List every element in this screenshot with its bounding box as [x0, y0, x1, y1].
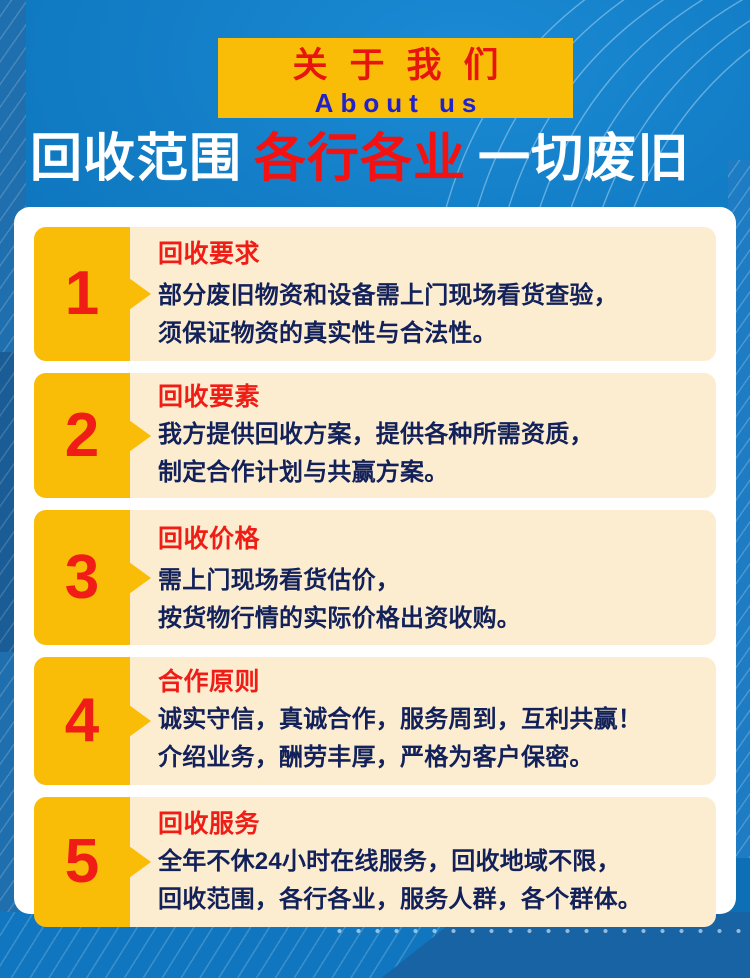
section-title: 回收要素: [158, 380, 702, 414]
section-content: 回收价格 需上门现场看货估价， 按货物行情的实际价格出资收购。: [130, 510, 716, 645]
section-number: 2: [65, 405, 99, 467]
section-line: 回收范围，各行各业，服务人群，各个群体。: [158, 881, 702, 919]
section-number-badge: 1: [34, 227, 130, 361]
list-item: 2 回收要素 我方提供回收方案，提供各种所需资质， 制定合作计划与共赢方案。: [34, 373, 716, 498]
section-line: 按货物行情的实际价格出资收购。: [158, 600, 702, 638]
title-segment-industries: 各行各业: [254, 130, 466, 188]
section-content: 回收要素 我方提供回收方案，提供各种所需资质， 制定合作计划与共赢方案。: [130, 373, 716, 498]
page-title: 回收范围各行各业一切废旧: [30, 127, 690, 191]
section-number-badge: 5: [34, 797, 130, 927]
list-item: 3 回收价格 需上门现场看货估价， 按货物行情的实际价格出资收购。: [34, 510, 716, 645]
about-us-poster: 关于我们 About us 回收范围各行各业一切废旧 1 回收要求 部分废旧物资…: [0, 0, 750, 978]
list-item: 4 合作原则 诚实守信，真诚合作，服务周到，互利共赢！ 介绍业务，酬劳丰厚，严格…: [34, 657, 716, 785]
section-content: 回收要求 部分废旧物资和设备需上门现场看货查验， 须保证物资的真实性与合法性。: [130, 227, 716, 361]
section-line: 全年不休24小时在线服务，回收地域不限，: [158, 843, 702, 881]
content-card: 1 回收要求 部分废旧物资和设备需上门现场看货查验， 须保证物资的真实性与合法性…: [14, 207, 736, 914]
about-us-english-label: About us: [218, 88, 573, 118]
section-content: 合作原则 诚实守信，真诚合作，服务周到，互利共赢！ 介绍业务，酬劳丰厚，严格为客…: [130, 657, 716, 785]
section-content: 回收服务 全年不休24小时在线服务，回收地域不限， 回收范围，各行各业，服务人群…: [130, 797, 716, 927]
section-line: 介绍业务，酬劳丰厚，严格为客户保密。: [158, 739, 702, 777]
section-number: 5: [65, 831, 99, 893]
section-title: 合作原则: [158, 665, 702, 699]
about-us-chinese-label: 关于我们: [218, 43, 573, 89]
poster-header: 关于我们 About us 回收范围各行各业一切废旧: [0, 0, 750, 205]
section-number-badge: 3: [34, 510, 130, 645]
section-number-badge: 2: [34, 373, 130, 498]
title-segment-waste: 一切废旧: [478, 130, 690, 188]
title-segment-scope: 回收范围: [30, 130, 242, 188]
section-line: 诚实守信，真诚合作，服务周到，互利共赢！: [158, 701, 702, 739]
section-line: 我方提供回收方案，提供各种所需资质，: [158, 416, 702, 454]
list-item: 1 回收要求 部分废旧物资和设备需上门现场看货查验， 须保证物资的真实性与合法性…: [34, 227, 716, 361]
section-title: 回收价格: [158, 522, 702, 556]
about-us-badge: 关于我们 About us: [218, 38, 573, 118]
section-number: 1: [65, 263, 99, 325]
section-number: 4: [65, 690, 99, 752]
section-line: 部分废旧物资和设备需上门现场看货查验，: [158, 277, 702, 315]
section-line: 需上门现场看货估价，: [158, 562, 702, 600]
section-title: 回收服务: [158, 807, 702, 841]
section-line: 制定合作计划与共赢方案。: [158, 454, 702, 492]
section-number: 3: [65, 547, 99, 609]
section-number-badge: 4: [34, 657, 130, 785]
list-item: 5 回收服务 全年不休24小时在线服务，回收地域不限， 回收范围，各行各业，服务…: [34, 797, 716, 927]
section-title: 回收要求: [158, 237, 702, 271]
section-line: 须保证物资的真实性与合法性。: [158, 315, 702, 353]
section-list: 1 回收要求 部分废旧物资和设备需上门现场看货查验， 须保证物资的真实性与合法性…: [34, 227, 716, 894]
bottom-dot-row: [330, 926, 750, 936]
